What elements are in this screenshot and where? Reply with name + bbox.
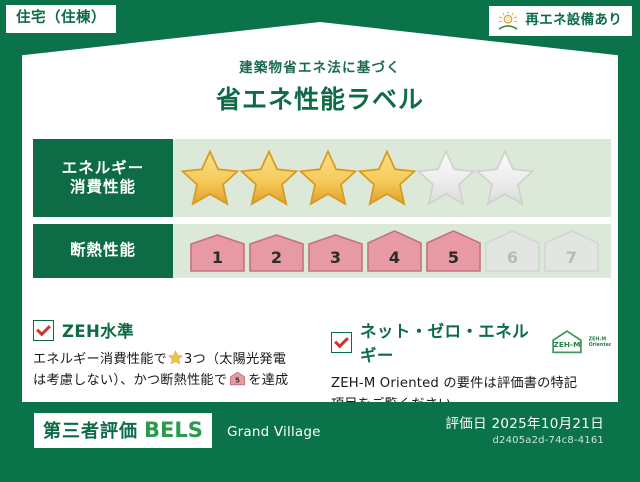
bels-jp-label: 第三者評価	[43, 417, 138, 443]
bels-evaluation-chip: 第三者評価 BELS	[34, 413, 212, 448]
category-chip: 住宅（住棟）	[6, 5, 116, 33]
building-name: Grand Village	[227, 424, 321, 440]
bels-en-label: BELS	[144, 418, 203, 442]
energy-performance-label: 住宅（住棟） D 再エネ設備あり 建築物省エネ法に基づく	[0, 0, 640, 482]
label-title-block: 建築物省エネ法に基づく 省エネ性能ラベル	[0, 56, 640, 116]
solar-sun-icon: D	[497, 11, 519, 31]
renewable-badge-label: 再エネ設備あり	[525, 14, 622, 28]
footer-bar: 第三者評価 BELS Grand Village 評価日 2025年10月21日…	[22, 402, 618, 460]
evaluation-date-value: 2025年10月21日	[491, 416, 604, 432]
title-main: 省エネ性能ラベル	[0, 80, 640, 116]
footer-meta: 評価日 2025年10月21日 d2405a2d-74c8-4161	[445, 412, 604, 446]
evaluation-date: 評価日 2025年10月21日	[445, 412, 604, 432]
renewable-energy-badge: D 再エネ設備あり	[489, 6, 632, 36]
evaluation-date-label: 評価日	[445, 416, 486, 432]
title-subtitle: 建築物省エネ法に基づく	[0, 56, 640, 76]
label-id: d2405a2d-74c8-4161	[445, 435, 604, 446]
svg-text:D: D	[507, 17, 511, 23]
